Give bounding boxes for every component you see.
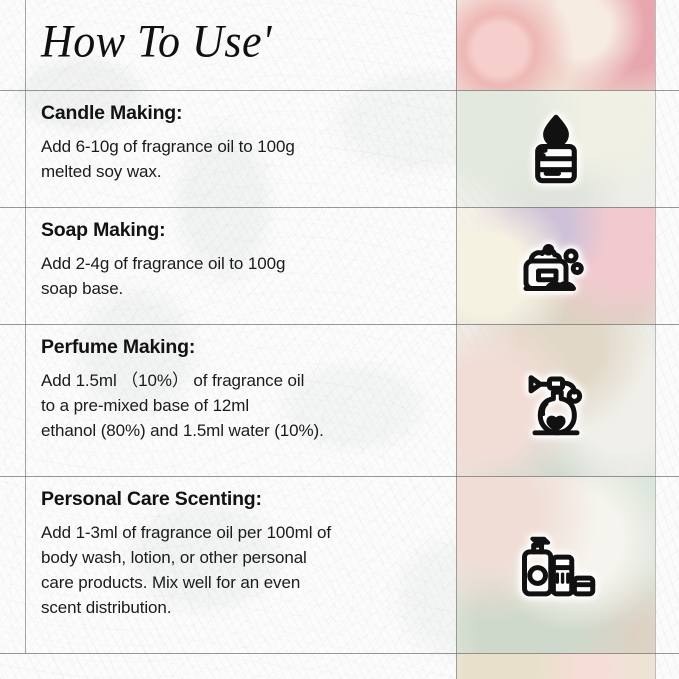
section-line: care products. Mix well for an even bbox=[41, 570, 441, 595]
divider-line-2 bbox=[0, 207, 679, 208]
divider-line-4 bbox=[0, 476, 679, 477]
section-line: Add 2-4g of fragrance oil to 100g bbox=[41, 251, 441, 276]
section-personal-care-scenting: Personal Care Scenting: Add 1-3ml of fra… bbox=[41, 488, 441, 620]
perfume-bottle-icon bbox=[510, 354, 602, 446]
section-line: soap base. bbox=[41, 276, 441, 301]
right-margin-rule bbox=[655, 0, 656, 679]
right-edge-background bbox=[655, 0, 679, 679]
section-line: scent distribution. bbox=[41, 595, 441, 620]
page-title: How To Use' bbox=[41, 14, 272, 68]
section-line: to a pre-mixed base of 12ml bbox=[41, 393, 441, 418]
body-care-products-icon bbox=[510, 519, 602, 611]
rose-photo-top bbox=[456, 0, 655, 90]
section-line: Add 1-3ml of fragrance oil per 100ml of bbox=[41, 520, 441, 545]
section-perfume-making: Perfume Making: Add 1.5ml （10%） of fragr… bbox=[41, 336, 441, 443]
section-line: melted soy wax. bbox=[41, 159, 441, 184]
image-column bbox=[456, 0, 655, 679]
section-soap-making: Soap Making: Add 2-4g of fragrance oil t… bbox=[41, 219, 441, 301]
section-line: Add 1.5ml （10%） of fragrance oil bbox=[41, 368, 441, 393]
title-row: How To Use' bbox=[0, 0, 456, 90]
soap-bar-icon bbox=[510, 220, 602, 312]
candle-icon bbox=[510, 103, 602, 195]
soap-photo bbox=[456, 207, 655, 324]
section-line: Add 6-10g of fragrance oil to 100g bbox=[41, 134, 441, 159]
text-column: How To Use' Candle Making: Add 6-10g of … bbox=[0, 0, 456, 679]
section-heading: Soap Making: bbox=[41, 219, 441, 242]
section-heading: Personal Care Scenting: bbox=[41, 488, 441, 511]
candle-photo bbox=[456, 90, 655, 207]
section-heading: Candle Making: bbox=[41, 102, 441, 125]
section-candle-making: Candle Making: Add 6-10g of fragrance oi… bbox=[41, 102, 441, 184]
section-heading: Perfume Making: bbox=[41, 336, 441, 359]
left-margin-rule bbox=[25, 0, 26, 653]
column-divider-rule bbox=[456, 0, 457, 679]
floral-photo-bottom bbox=[456, 653, 655, 679]
divider-line-5 bbox=[0, 653, 679, 654]
section-line: body wash, lotion, or other personal bbox=[41, 545, 441, 570]
section-line: ethanol (80%) and 1.5ml water (10%). bbox=[41, 418, 441, 443]
divider-line-3 bbox=[0, 324, 679, 325]
perfume-photo bbox=[456, 324, 655, 476]
care-photo bbox=[456, 476, 655, 653]
how-to-use-infographic: How To Use' Candle Making: Add 6-10g of … bbox=[0, 0, 679, 679]
divider-line-1 bbox=[0, 90, 679, 91]
